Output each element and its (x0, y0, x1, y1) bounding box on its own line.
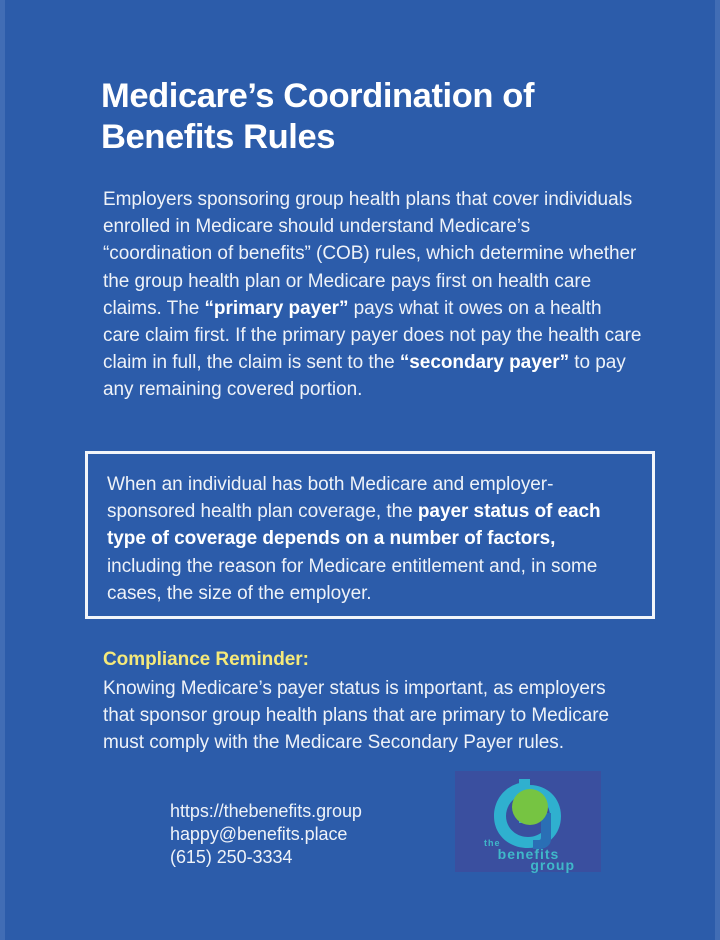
page-title: Medicare’s Coordination of Benefits Rule… (101, 76, 641, 158)
flyer-page: Medicare’s Coordination of Benefits Rule… (0, 0, 720, 940)
compliance-reminder-body: Knowing Medicare’s payer status is impor… (103, 675, 623, 757)
callout-paragraph: When an individual has both Medicare and… (107, 471, 635, 607)
compliance-reminder-heading: Compliance Reminder: (103, 647, 309, 672)
callout-box: When an individual has both Medicare and… (85, 451, 655, 619)
intro-paragraph: Employers sponsoring group health plans … (103, 186, 643, 404)
page-title-line-1: Medicare’s Coordination of (101, 77, 534, 115)
callout-segment-2: including the reason for Medicare entitl… (107, 556, 597, 604)
logo-wordmark: the benefits group (466, 838, 591, 872)
intro-bold-secondary-payer: “secondary payer” (400, 352, 569, 373)
flyer-content: Medicare’s Coordination of Benefits Rule… (0, 0, 720, 940)
contact-website[interactable]: https://thebenefits.group (170, 800, 362, 823)
contact-phone[interactable]: (615) 250-3334 (170, 846, 362, 869)
intro-bold-primary-payer: “primary payer” (204, 298, 348, 319)
page-title-line-2: Benefits Rules (101, 118, 335, 156)
contact-email[interactable]: happy@benefits.place (170, 823, 362, 846)
contact-block: https://thebenefits.group happy@benefits… (170, 800, 362, 869)
